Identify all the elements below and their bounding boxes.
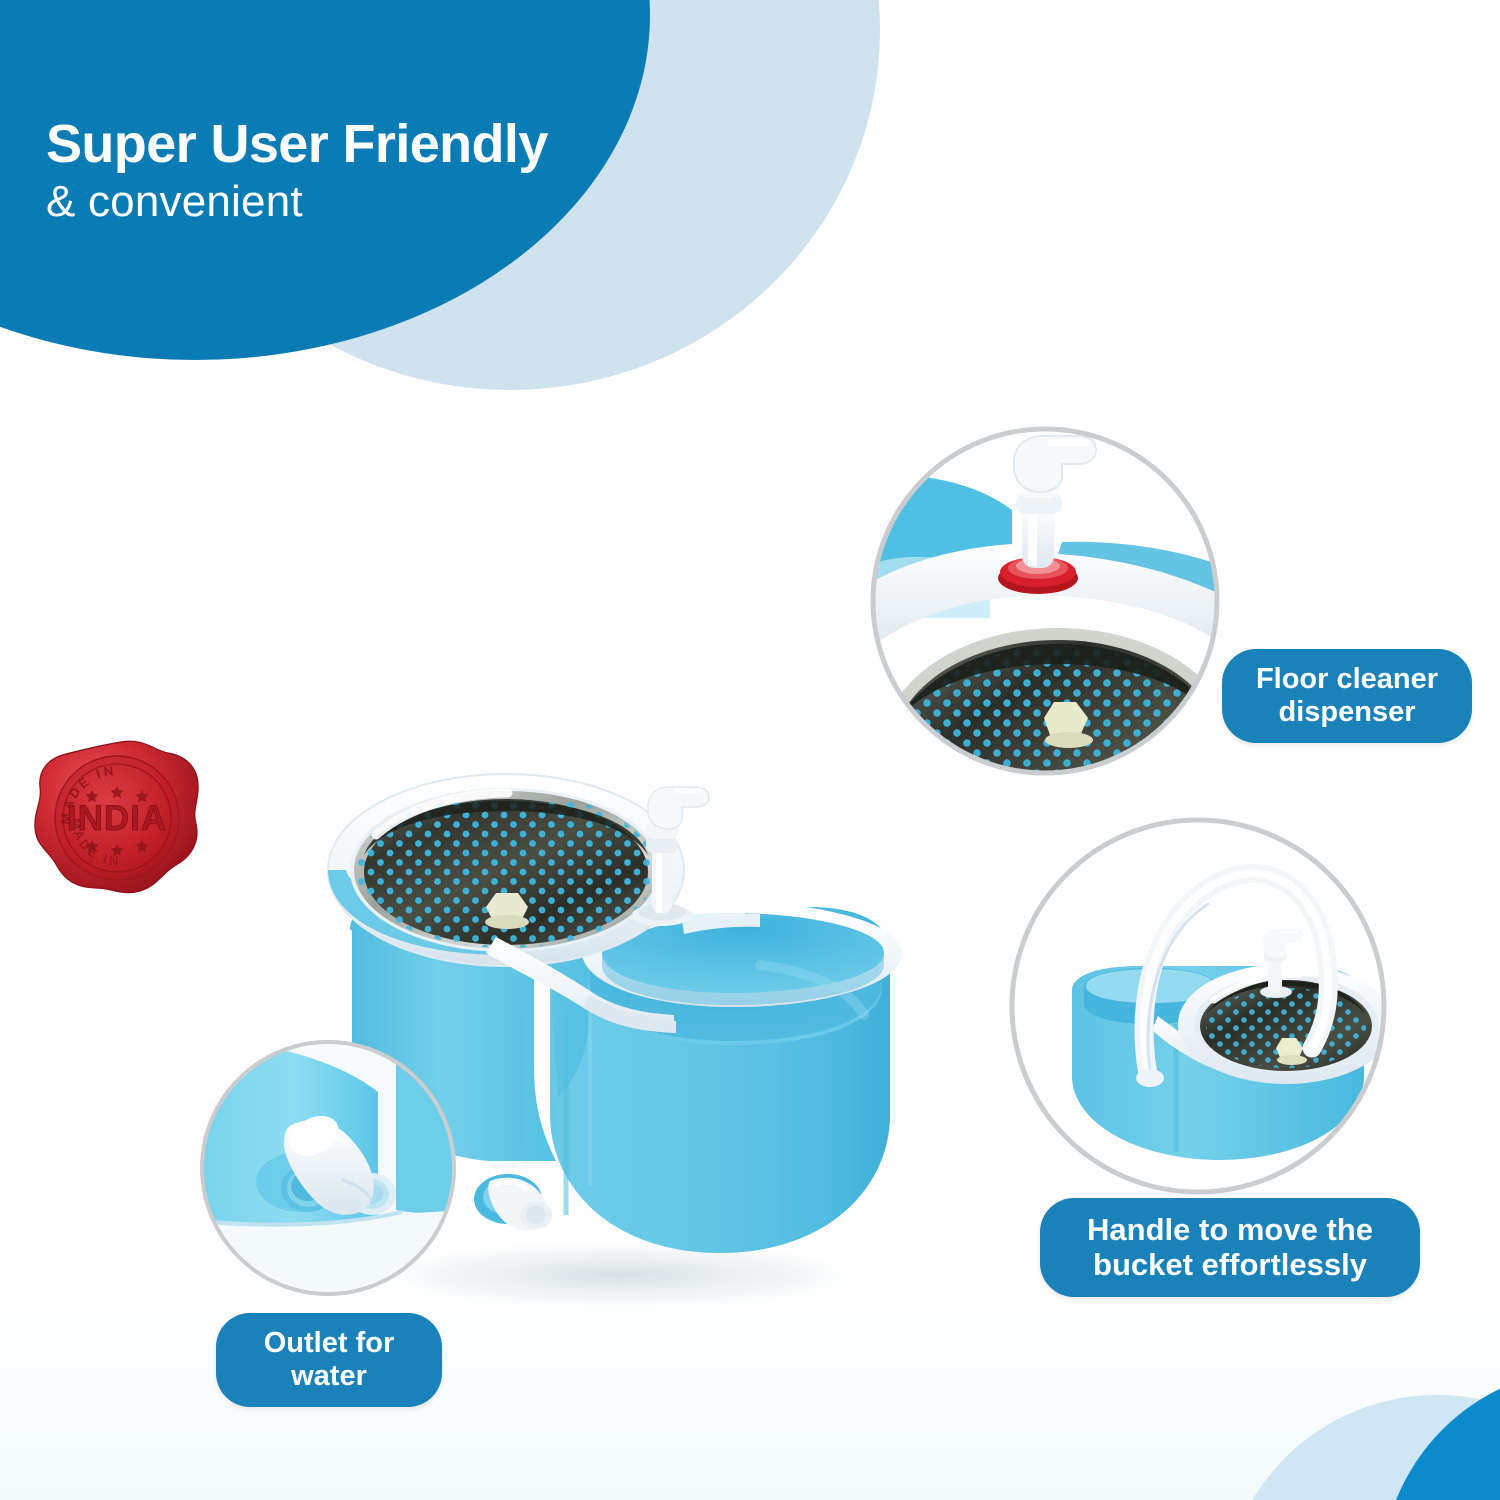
callout-label-handle-to-move: Handle to move the bucket effortlessly: [1040, 1198, 1420, 1297]
callout-line-1: Floor cleaner: [1244, 663, 1450, 696]
callout-line-2: water: [238, 1360, 420, 1393]
infographic-page: Super User Friendly & convenient: [0, 0, 1500, 1500]
headline-block: Super User Friendly & convenient: [46, 117, 686, 228]
callout-label-outlet-for-water: Outlet for water: [216, 1313, 442, 1407]
inset-dispenser-closeup: [862, 418, 1228, 784]
page-subtitle: & convenient: [46, 176, 686, 228]
svg-text:INDIA: INDIA: [67, 799, 167, 838]
water-outlet-art: [474, 1174, 552, 1231]
callout-line-2: dispenser: [1244, 696, 1450, 729]
inset-outlet-closeup: [192, 1032, 464, 1304]
callout-line-1: Handle to move the: [1062, 1212, 1398, 1247]
made-in-india-seal: MADE IN MADE IN INDIA: [26, 736, 216, 911]
callout-line-1: Outlet for: [238, 1327, 420, 1360]
callout-line-2: bucket effortlessly: [1062, 1247, 1398, 1282]
callout-label-floor-cleaner-dispenser: Floor cleaner dispenser: [1222, 649, 1472, 743]
inset-handle-closeup: [1000, 808, 1396, 1204]
page-title: Super User Friendly: [46, 117, 686, 172]
